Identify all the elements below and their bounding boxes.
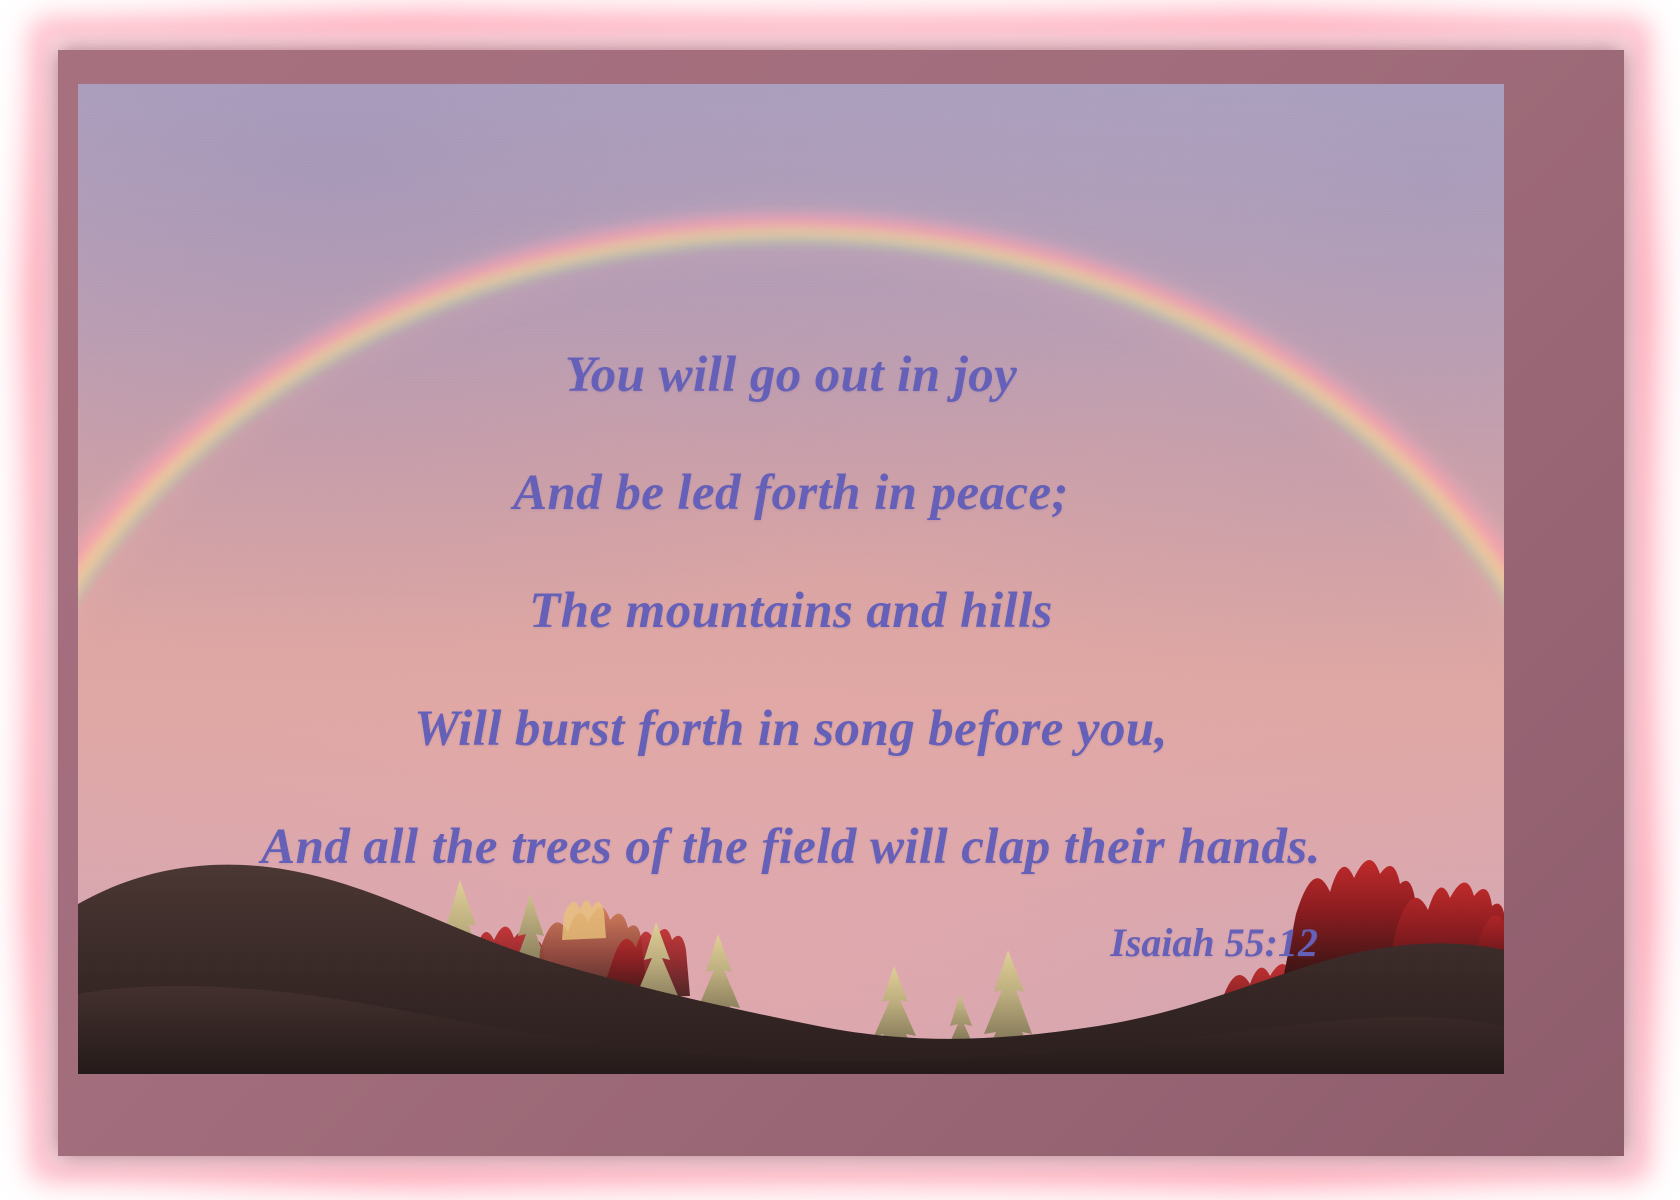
hills-svg [78,744,1504,1074]
foreground-hills [78,744,1504,1074]
photo-window: You will go out in joy And be led forth … [78,84,1504,1074]
poster-canvas: You will go out in joy And be led forth … [0,0,1680,1200]
scripture-citation: Isaiah 55:12 [1110,919,1318,966]
mat-frame: You will go out in joy And be led forth … [58,50,1624,1156]
